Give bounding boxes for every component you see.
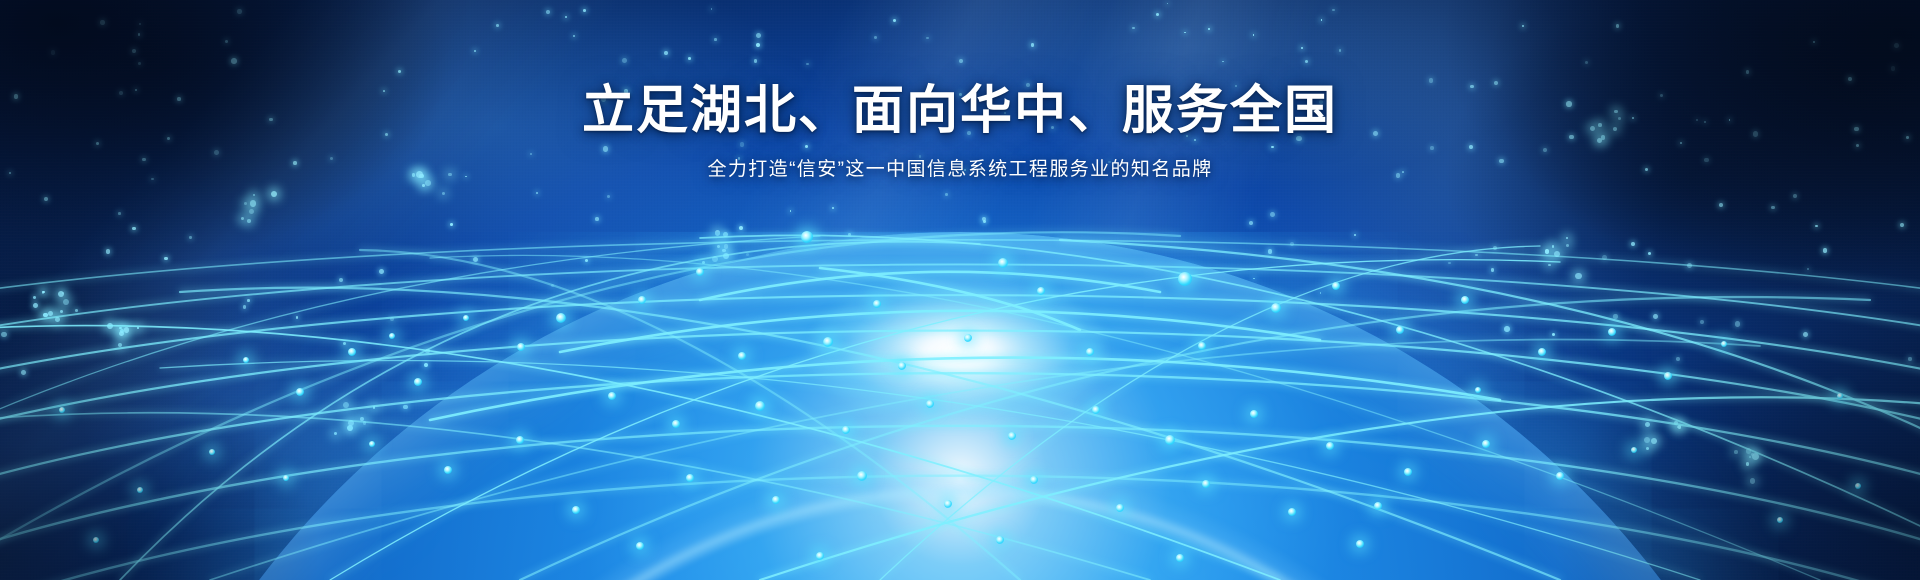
- hero-banner: 立足湖北、面向华中、服务全国 全力打造“信安”这一中国信息系统工程服务业的知名品…: [0, 0, 1920, 580]
- banner-headline: 立足湖北、面向华中、服务全国: [0, 82, 1920, 140]
- banner-subheadline: 全力打造“信安”这一中国信息系统工程服务业的知名品牌: [0, 158, 1920, 183]
- banner-copy: 立足湖北、面向华中、服务全国 全力打造“信安”这一中国信息系统工程服务业的知名品…: [0, 82, 1920, 183]
